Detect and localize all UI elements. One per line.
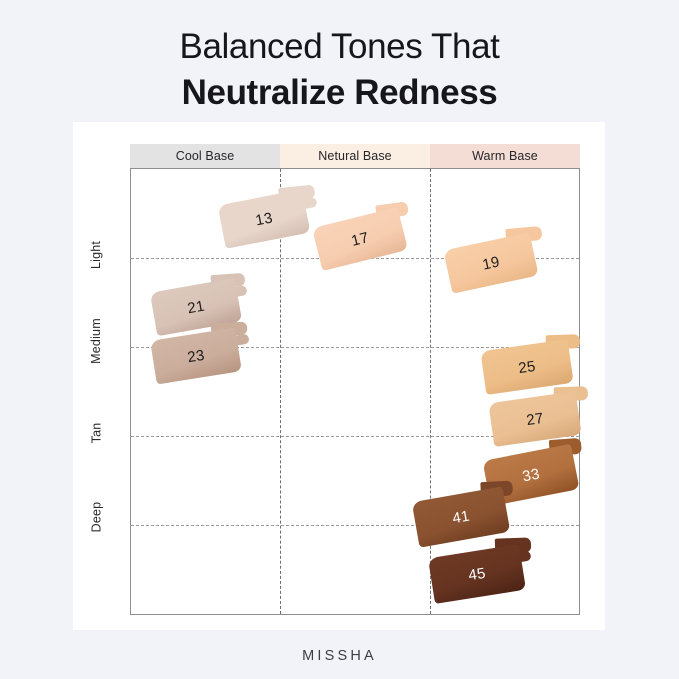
swatch-19[interactable]: 19 xyxy=(443,232,538,293)
swatch-label: 27 xyxy=(525,409,544,428)
row-label-text: Tan xyxy=(89,423,103,444)
row-label-light: Light xyxy=(73,248,119,262)
swatch-45[interactable]: 45 xyxy=(428,544,526,604)
brand-logo: MISSHA xyxy=(0,648,679,664)
swatch-17[interactable]: 17 xyxy=(312,207,408,271)
column-header-netural-base: Netural Base xyxy=(280,144,430,168)
swatch-label: 45 xyxy=(467,564,487,583)
column-header-warm-base: Warm Base xyxy=(430,144,580,168)
swatch-23[interactable]: 23 xyxy=(150,328,242,385)
column-header-label: Netural Base xyxy=(318,149,391,163)
row-label-deep: Deep xyxy=(73,510,119,524)
swatch-13[interactable]: 13 xyxy=(218,189,311,249)
title-line-2: Neutralize Redness xyxy=(0,70,679,116)
swatch-label: 23 xyxy=(186,346,206,365)
title-line-1: Balanced Tones That xyxy=(0,24,679,70)
swatch-label: 33 xyxy=(521,465,541,485)
row-label-text: Deep xyxy=(89,502,103,533)
row-label-text: Medium xyxy=(89,318,103,364)
row-label-tan: Tan xyxy=(73,426,119,440)
row-label-text: Light xyxy=(89,241,103,269)
column-header-label: Warm Base xyxy=(472,149,538,163)
column-header-label: Cool Base xyxy=(176,149,235,163)
swatch-label: 13 xyxy=(254,209,274,229)
swatch-label: 21 xyxy=(186,297,206,317)
swatch-label: 41 xyxy=(451,507,471,527)
column-header-cool-base: Cool Base xyxy=(130,144,280,168)
grid-hline-deep xyxy=(131,525,579,526)
grid-vline-netural-warm xyxy=(430,169,431,614)
shade-grid: 13 17 19 21 23 xyxy=(130,168,580,615)
page-title: Balanced Tones That Neutralize Redness xyxy=(0,24,679,116)
row-label-medium: Medium xyxy=(73,334,119,348)
swatch-label: 25 xyxy=(517,357,536,376)
shade-matrix-card: Cool Base Netural Base Warm Base 13 17 xyxy=(73,122,605,630)
swatch-label: 19 xyxy=(481,253,501,273)
